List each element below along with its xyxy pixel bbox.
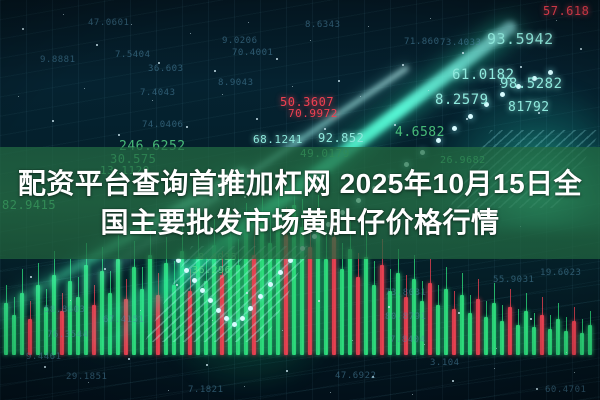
sparkle-dot (96, 44, 98, 46)
sparkle-dot (430, 18, 431, 19)
price-readout: 60.4701 (545, 385, 586, 395)
price-readout: 3.104 (430, 358, 460, 368)
sparkle-dot (244, 386, 245, 387)
candle-body (532, 327, 536, 355)
sparkle-dot (324, 128, 326, 130)
sparkle-dot (574, 372, 575, 373)
sparkle-dot (222, 94, 223, 95)
sparkle-dot (580, 48, 582, 50)
candle-body (28, 319, 32, 355)
candle-body (580, 333, 584, 355)
sparkle-dot (44, 366, 46, 368)
candle-body (92, 305, 96, 355)
candle-body (52, 275, 56, 355)
candle-body (380, 265, 384, 355)
candle-body (364, 257, 368, 355)
sparkle-dot (206, 364, 208, 366)
price-readout: 8.6343 (305, 20, 341, 30)
sparkle-dot (452, 380, 454, 382)
candle-body (540, 315, 544, 355)
sparkle-dot (402, 64, 404, 66)
sparkle-dot (536, 388, 538, 390)
sparkle-dot (556, 20, 557, 21)
sparkle-dot (360, 96, 361, 97)
sparkle-dot (18, 96, 19, 97)
candle-body (524, 311, 528, 355)
candle-body (388, 291, 392, 355)
price-readout: 58.8603 (44, 305, 85, 315)
sparkle-dot (152, 100, 153, 101)
price-readout: 4.6582 (395, 125, 445, 140)
tracer-dot (240, 316, 245, 321)
price-readout: 76.3544 (47, 330, 88, 340)
sparkle-dot (104, 268, 106, 270)
sparkle-dot (246, 292, 248, 294)
tracer-dot (232, 322, 237, 327)
sparkle-dot (30, 276, 32, 278)
price-readout: 81792 (508, 100, 550, 115)
sparkle-dot (318, 300, 320, 302)
candle-body (476, 299, 480, 355)
price-readout: 57.618 (543, 4, 589, 18)
tracer-dot (500, 92, 505, 97)
price-readout: 7.5404 (115, 50, 151, 60)
price-readout: 98.5282 (500, 76, 563, 92)
candle-body (444, 289, 448, 355)
tracer-dot (548, 70, 553, 75)
market-banner-image: 93.594261.018298.52828.25798179250.36077… (0, 0, 600, 400)
sparkle-dot (168, 390, 169, 391)
sparkle-dot (70, 300, 71, 301)
sparkle-dot (214, 70, 216, 72)
candle-body (500, 321, 504, 355)
candle-body (452, 309, 456, 355)
price-readout: 73.4033 (440, 38, 481, 48)
candle-body (484, 317, 488, 355)
price-readout: 55.9031 (493, 275, 534, 285)
sparkle-dot (412, 394, 413, 395)
price-readout: 47.0601 (88, 18, 129, 28)
sparkle-dot (368, 26, 369, 27)
sparkle-dot (466, 118, 468, 120)
price-readout: 7.4043 (140, 88, 176, 98)
tracer-dot (278, 270, 283, 275)
candle-body (116, 259, 120, 355)
candle-body (100, 271, 104, 355)
tracer-dot (224, 316, 229, 321)
candle-body (372, 285, 376, 355)
sparkle-dot (462, 52, 464, 54)
title-line-2: 国主要批发市场黄肚仔价格行情 (100, 205, 499, 240)
sparkle-dot (496, 348, 497, 349)
page-title: 配资平台查询首推加杠网 2025年10月15日全 国主要批发市场黄肚仔价格行情 (0, 150, 600, 256)
sparkle-dot (63, 14, 64, 15)
sparkle-dot (330, 392, 331, 393)
sparkle-dot (131, 24, 132, 25)
candle-body (340, 269, 344, 355)
sparkle-dot (428, 90, 429, 91)
candle-body (36, 285, 40, 355)
sparkle-dot (140, 310, 141, 311)
tracer-dot (452, 126, 457, 131)
sparkle-dot (176, 284, 178, 286)
sparkle-dot (128, 358, 130, 360)
tracer-dot (258, 294, 263, 299)
price-readout: 9.8881 (40, 55, 76, 65)
candle-body (460, 295, 464, 355)
candle-body (308, 247, 312, 355)
price-readout: 29.1851 (66, 372, 107, 382)
sparkle-dot (494, 368, 495, 369)
sparkle-dot (566, 352, 567, 353)
price-readout: 36.296 (192, 265, 231, 276)
sparkle-dot (310, 40, 311, 41)
sparkle-dot (88, 382, 89, 383)
price-readout: 80.8791 (385, 312, 426, 322)
price-readout: 67.4151 (103, 315, 144, 325)
sparkle-dot (256, 118, 258, 120)
price-readout: 73.8031 (385, 288, 426, 298)
candle-body (356, 277, 360, 355)
tracer-dot (184, 268, 189, 273)
price-readout: 47.6922 (335, 371, 376, 381)
sparkle-dot (22, 28, 24, 30)
price-readout: 70.9972 (288, 107, 338, 120)
sparkle-dot (190, 33, 191, 34)
candle-body (324, 259, 328, 355)
price-readout: 9.4461 (26, 352, 62, 362)
sparkle-dot (352, 340, 353, 341)
tracer-dot (248, 306, 253, 311)
sparkle-dot (282, 330, 283, 331)
price-readout: 8.2579 (435, 92, 489, 108)
candle-body (516, 325, 520, 355)
candle-body (12, 315, 16, 355)
tracer-dot (200, 288, 205, 293)
price-readout: 74.0406 (142, 120, 183, 130)
tracer-dot (268, 282, 273, 287)
candle-body (572, 321, 576, 355)
price-readout: 36.603 (148, 64, 184, 74)
sparkle-dot (530, 318, 532, 320)
candle-body (428, 283, 432, 355)
price-readout: 92.852 (318, 131, 364, 145)
sparkle-dot (118, 134, 120, 136)
price-readout: 19.6023 (540, 268, 581, 278)
candle-body (468, 313, 472, 355)
candle-body (588, 325, 592, 355)
price-readout: 8.9043 (218, 78, 254, 88)
price-readout: 9.0206 (222, 36, 258, 46)
candle-body (404, 297, 408, 355)
tracer-dot (216, 308, 221, 313)
sparkle-dot (212, 320, 213, 321)
tracer-dot (192, 278, 197, 283)
tracer-dot (208, 298, 213, 303)
sparkle-dot (338, 80, 340, 82)
price-readout: 68.1241 (253, 133, 303, 146)
price-readout: 7.1821 (188, 385, 224, 395)
candle-body (556, 319, 560, 355)
sparkle-dot (84, 88, 85, 89)
title-line-1: 配资平台查询首推加杠网 2025年10月15日全 (18, 166, 582, 201)
sparkle-dot (248, 22, 249, 23)
tracer-dot (468, 114, 473, 119)
sparkle-dot (286, 370, 288, 372)
candle-body (548, 329, 552, 355)
sparkle-dot (458, 312, 460, 314)
sparkle-dot (276, 58, 278, 60)
price-readout: 71.860 (404, 37, 440, 47)
sparkle-dot (292, 86, 293, 87)
price-readout: 93.5942 (487, 30, 554, 48)
sparkle-dot (520, 66, 522, 68)
candle-body (420, 301, 424, 355)
candle-body (436, 305, 440, 355)
price-readout: 70.4001 (232, 48, 273, 58)
sparkle-dot (186, 126, 188, 128)
candle-body (508, 307, 512, 355)
sparkle-dot (52, 120, 54, 122)
price-readout: 7.8404 (390, 335, 426, 345)
sparkle-dot (388, 306, 390, 308)
